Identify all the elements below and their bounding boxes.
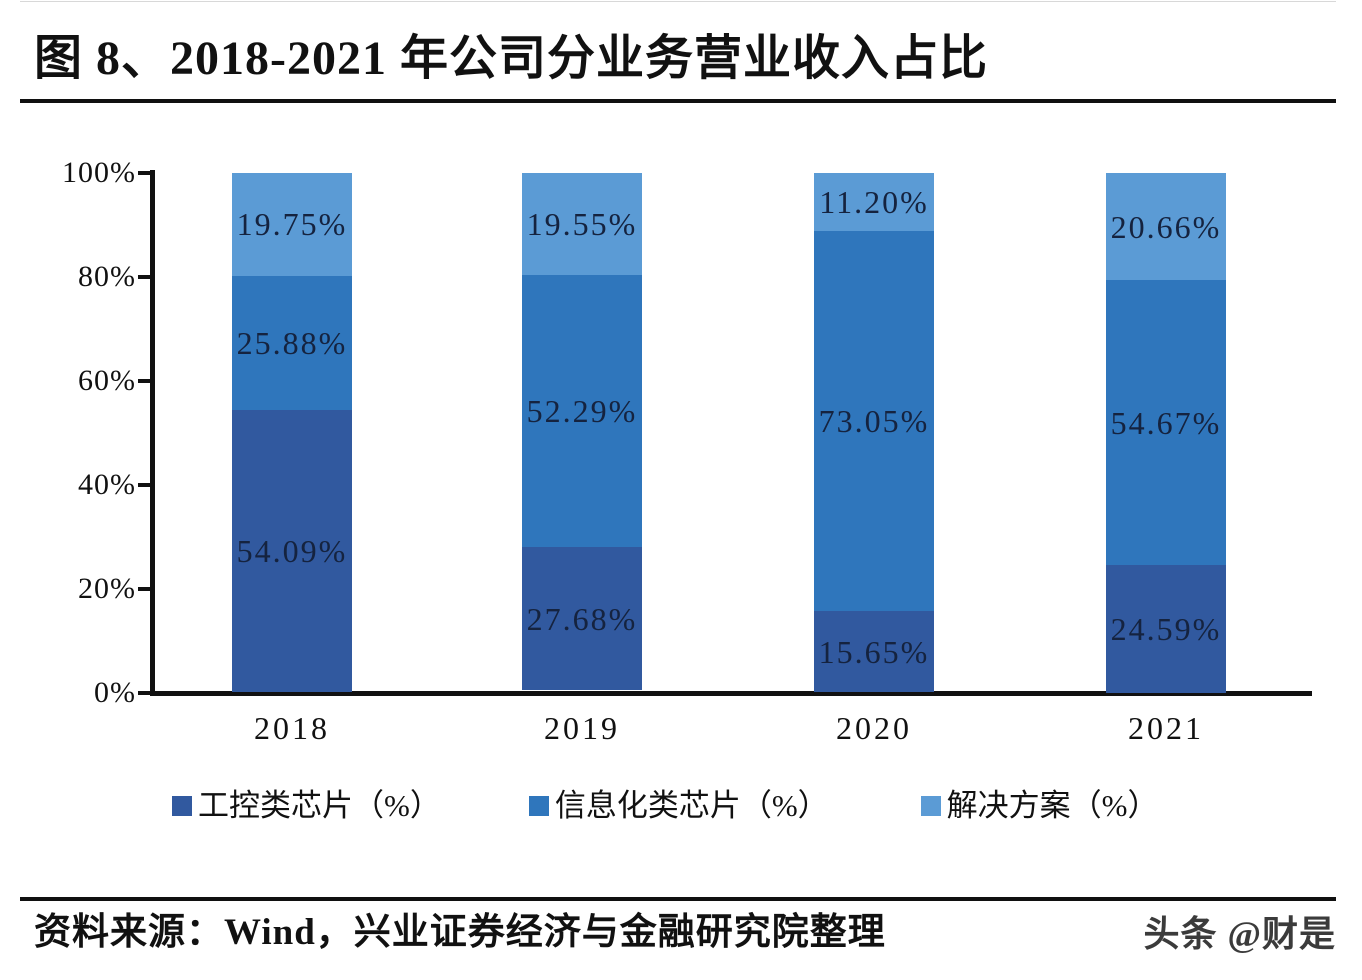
bar-segment-label: 15.65% — [819, 636, 930, 668]
bar-segment-label: 24.59% — [1111, 613, 1222, 645]
bar-segment-label: 54.67% — [1111, 407, 1222, 439]
y-axis-tick-label: 20% — [36, 574, 136, 604]
x-axis-tick-label: 2018 — [192, 710, 392, 746]
stacked-bar: 11.20%73.05%15.65% — [814, 173, 934, 693]
legend-swatch-icon — [172, 796, 192, 816]
legend-item[interactable]: 工控类芯片（%） — [172, 789, 441, 823]
figure-title: 图 8、2018-2021 年公司分业务营业收入占比 — [34, 26, 1314, 92]
source-note: 资料来源：Wind，兴业证券经济与金融研究院整理 — [34, 906, 886, 960]
bar-segment-label: 25.88% — [237, 327, 348, 359]
y-axis-tick-label: 100% — [36, 158, 136, 188]
y-axis-tick — [138, 275, 152, 279]
bar-segment-label: 19.75% — [237, 208, 348, 240]
y-axis-tick-label: 60% — [36, 366, 136, 396]
legend-label: 信息化类芯片（%） — [555, 789, 829, 823]
bar-segment: 73.05% — [814, 231, 934, 611]
legend-label: 工控类芯片（%） — [198, 789, 441, 823]
y-axis-tick-label: 80% — [36, 262, 136, 292]
bar-segment: 24.59% — [1106, 565, 1226, 693]
footer-divider — [20, 897, 1336, 901]
bar-segment: 20.66% — [1106, 173, 1226, 280]
stacked-bar: 20.66%54.67%24.59% — [1106, 173, 1226, 693]
title-divider — [20, 99, 1336, 103]
top-divider — [20, 1, 1336, 2]
legend-item[interactable]: 信息化类芯片（%） — [529, 789, 829, 823]
bar-segment: 15.65% — [814, 611, 934, 692]
y-axis-tick — [138, 483, 152, 487]
bar-segment: 54.67% — [1106, 280, 1226, 564]
bar-segment-label: 19.55% — [527, 208, 638, 240]
x-axis-tick-label: 2019 — [482, 710, 682, 746]
bar-segment: 19.75% — [232, 173, 352, 276]
legend-item[interactable]: 解决方案（%） — [921, 789, 1159, 823]
y-axis-line — [150, 170, 155, 696]
bar-segment: 54.09% — [232, 410, 352, 691]
bar-segment-label: 20.66% — [1111, 211, 1222, 243]
y-axis-tick — [138, 171, 152, 175]
bar-segment: 25.88% — [232, 276, 352, 411]
y-axis-tick — [138, 379, 152, 383]
y-axis-tick — [138, 587, 152, 591]
y-axis-tick-label: 0% — [36, 678, 136, 708]
bar-segment-label: 73.05% — [819, 405, 930, 437]
chart-legend: 工控类芯片（%）信息化类芯片（%）解决方案（%） — [150, 782, 1250, 830]
legend-swatch-icon — [921, 796, 941, 816]
watermark-label: 头条 @财是 — [1144, 908, 1337, 960]
bar-segment: 11.20% — [814, 173, 934, 231]
legend-label: 解决方案（%） — [947, 789, 1159, 823]
bar-segment: 27.68% — [522, 547, 642, 691]
x-axis-tick-label: 2020 — [774, 710, 974, 746]
bar-segment: 19.55% — [522, 173, 642, 275]
y-axis-tick — [138, 691, 152, 695]
y-axis-tick-label: 40% — [36, 470, 136, 500]
legend-swatch-icon — [529, 796, 549, 816]
bar-segment-label: 52.29% — [527, 395, 638, 427]
bar-segment: 52.29% — [522, 275, 642, 547]
stacked-bar: 19.55%52.29%27.68% — [522, 173, 642, 693]
figure-page: 图 8、2018-2021 年公司分业务营业收入占比 0%20%40%60%80… — [0, 0, 1362, 980]
stacked-bar: 19.75%25.88%54.09% — [232, 173, 352, 693]
x-axis-tick-label: 2021 — [1066, 710, 1266, 746]
chart-area: 0%20%40%60%80%100% 19.75%25.88%54.09%19.… — [0, 110, 1362, 870]
bar-segment-label: 11.20% — [819, 186, 928, 218]
bar-segment-label: 54.09% — [237, 535, 348, 567]
bar-segment-label: 27.68% — [527, 603, 638, 635]
